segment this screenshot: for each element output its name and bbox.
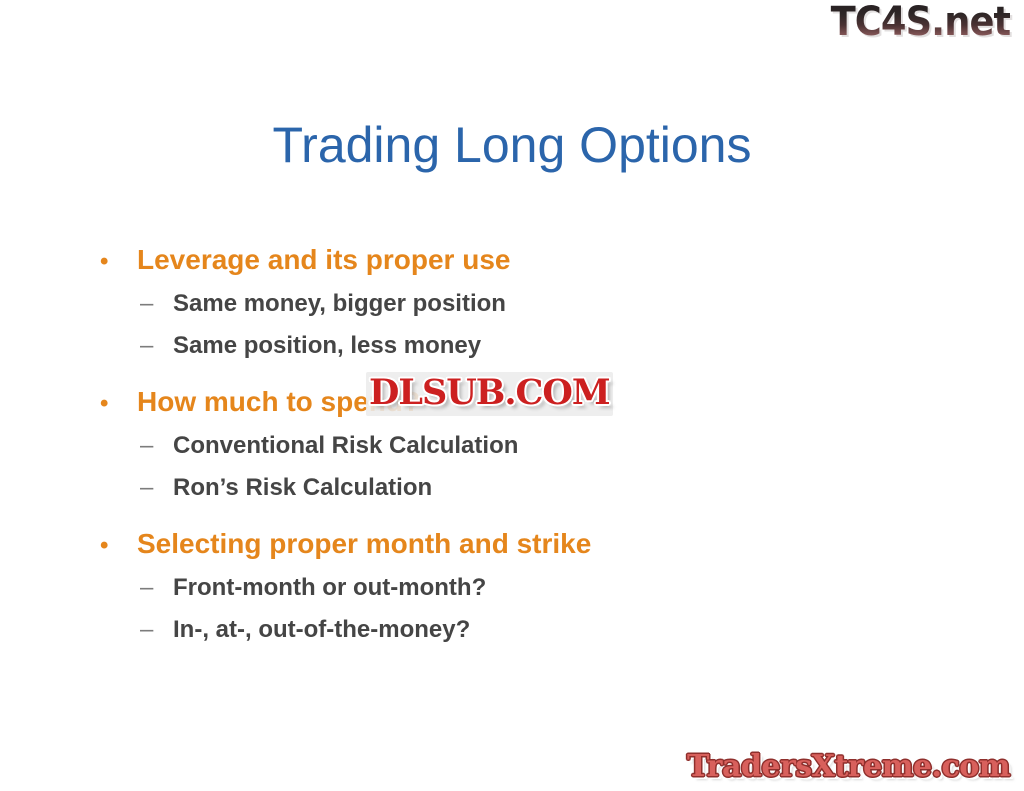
dash-marker-icon: – [140, 618, 173, 642]
dash-marker-icon: – [140, 334, 173, 358]
bullet-dot-icon: • [96, 250, 137, 274]
outline-level2-label: Ron’s Risk Calculation [173, 476, 796, 500]
dash-marker-icon: – [140, 292, 173, 316]
outline-level2-label: Front-month or out-month? [173, 576, 796, 600]
page-title: Trading Long Options [0, 118, 1024, 173]
dash-marker-icon: – [140, 576, 173, 600]
outline-level1-item: • Selecting proper month and strike [96, 530, 796, 558]
dash-marker-icon: – [140, 476, 173, 500]
outline-level2-item: – Conventional Risk Calculation [96, 434, 796, 458]
outline-level2-label: Same money, bigger position [173, 292, 796, 316]
outline-level2-item: – Front-month or out-month? [96, 576, 796, 600]
bullet-dot-icon: • [96, 534, 137, 558]
outline-level1-item: • Leverage and its proper use [96, 246, 796, 274]
tc4s-brand-logo: TC4S.net [830, 2, 1010, 42]
outline-level2-item: – Same money, bigger position [96, 292, 796, 316]
outline-level2-label: Same position, less money [173, 334, 796, 358]
outline-level1-label: Selecting proper month and strike [137, 530, 796, 558]
outline-level2-item: – In-, at-, out-of-the-money? [96, 618, 796, 642]
presentation-slide: TC4S.net TC4S.net Trading Long Options •… [0, 0, 1024, 791]
tradersxtreme-footer-logo: TradersXtreme.com [687, 750, 1010, 783]
dash-marker-icon: – [140, 434, 173, 458]
slide-outline: • Leverage and its proper use – Same mon… [96, 246, 796, 642]
outline-level1-label: Leverage and its proper use [137, 246, 796, 274]
outline-level2-item: – Ron’s Risk Calculation [96, 476, 796, 500]
outline-level2-label: Conventional Risk Calculation [173, 434, 796, 458]
outline-group: • Leverage and its proper use – Same mon… [96, 246, 796, 358]
dlsub-watermark: DLSUB.COM [366, 372, 613, 416]
outline-level2-label: In-, at-, out-of-the-money? [173, 618, 796, 642]
outline-group: • Selecting proper month and strike – Fr… [96, 530, 796, 642]
outline-level2-item: – Same position, less money [96, 334, 796, 358]
bullet-dot-icon: • [96, 392, 137, 416]
